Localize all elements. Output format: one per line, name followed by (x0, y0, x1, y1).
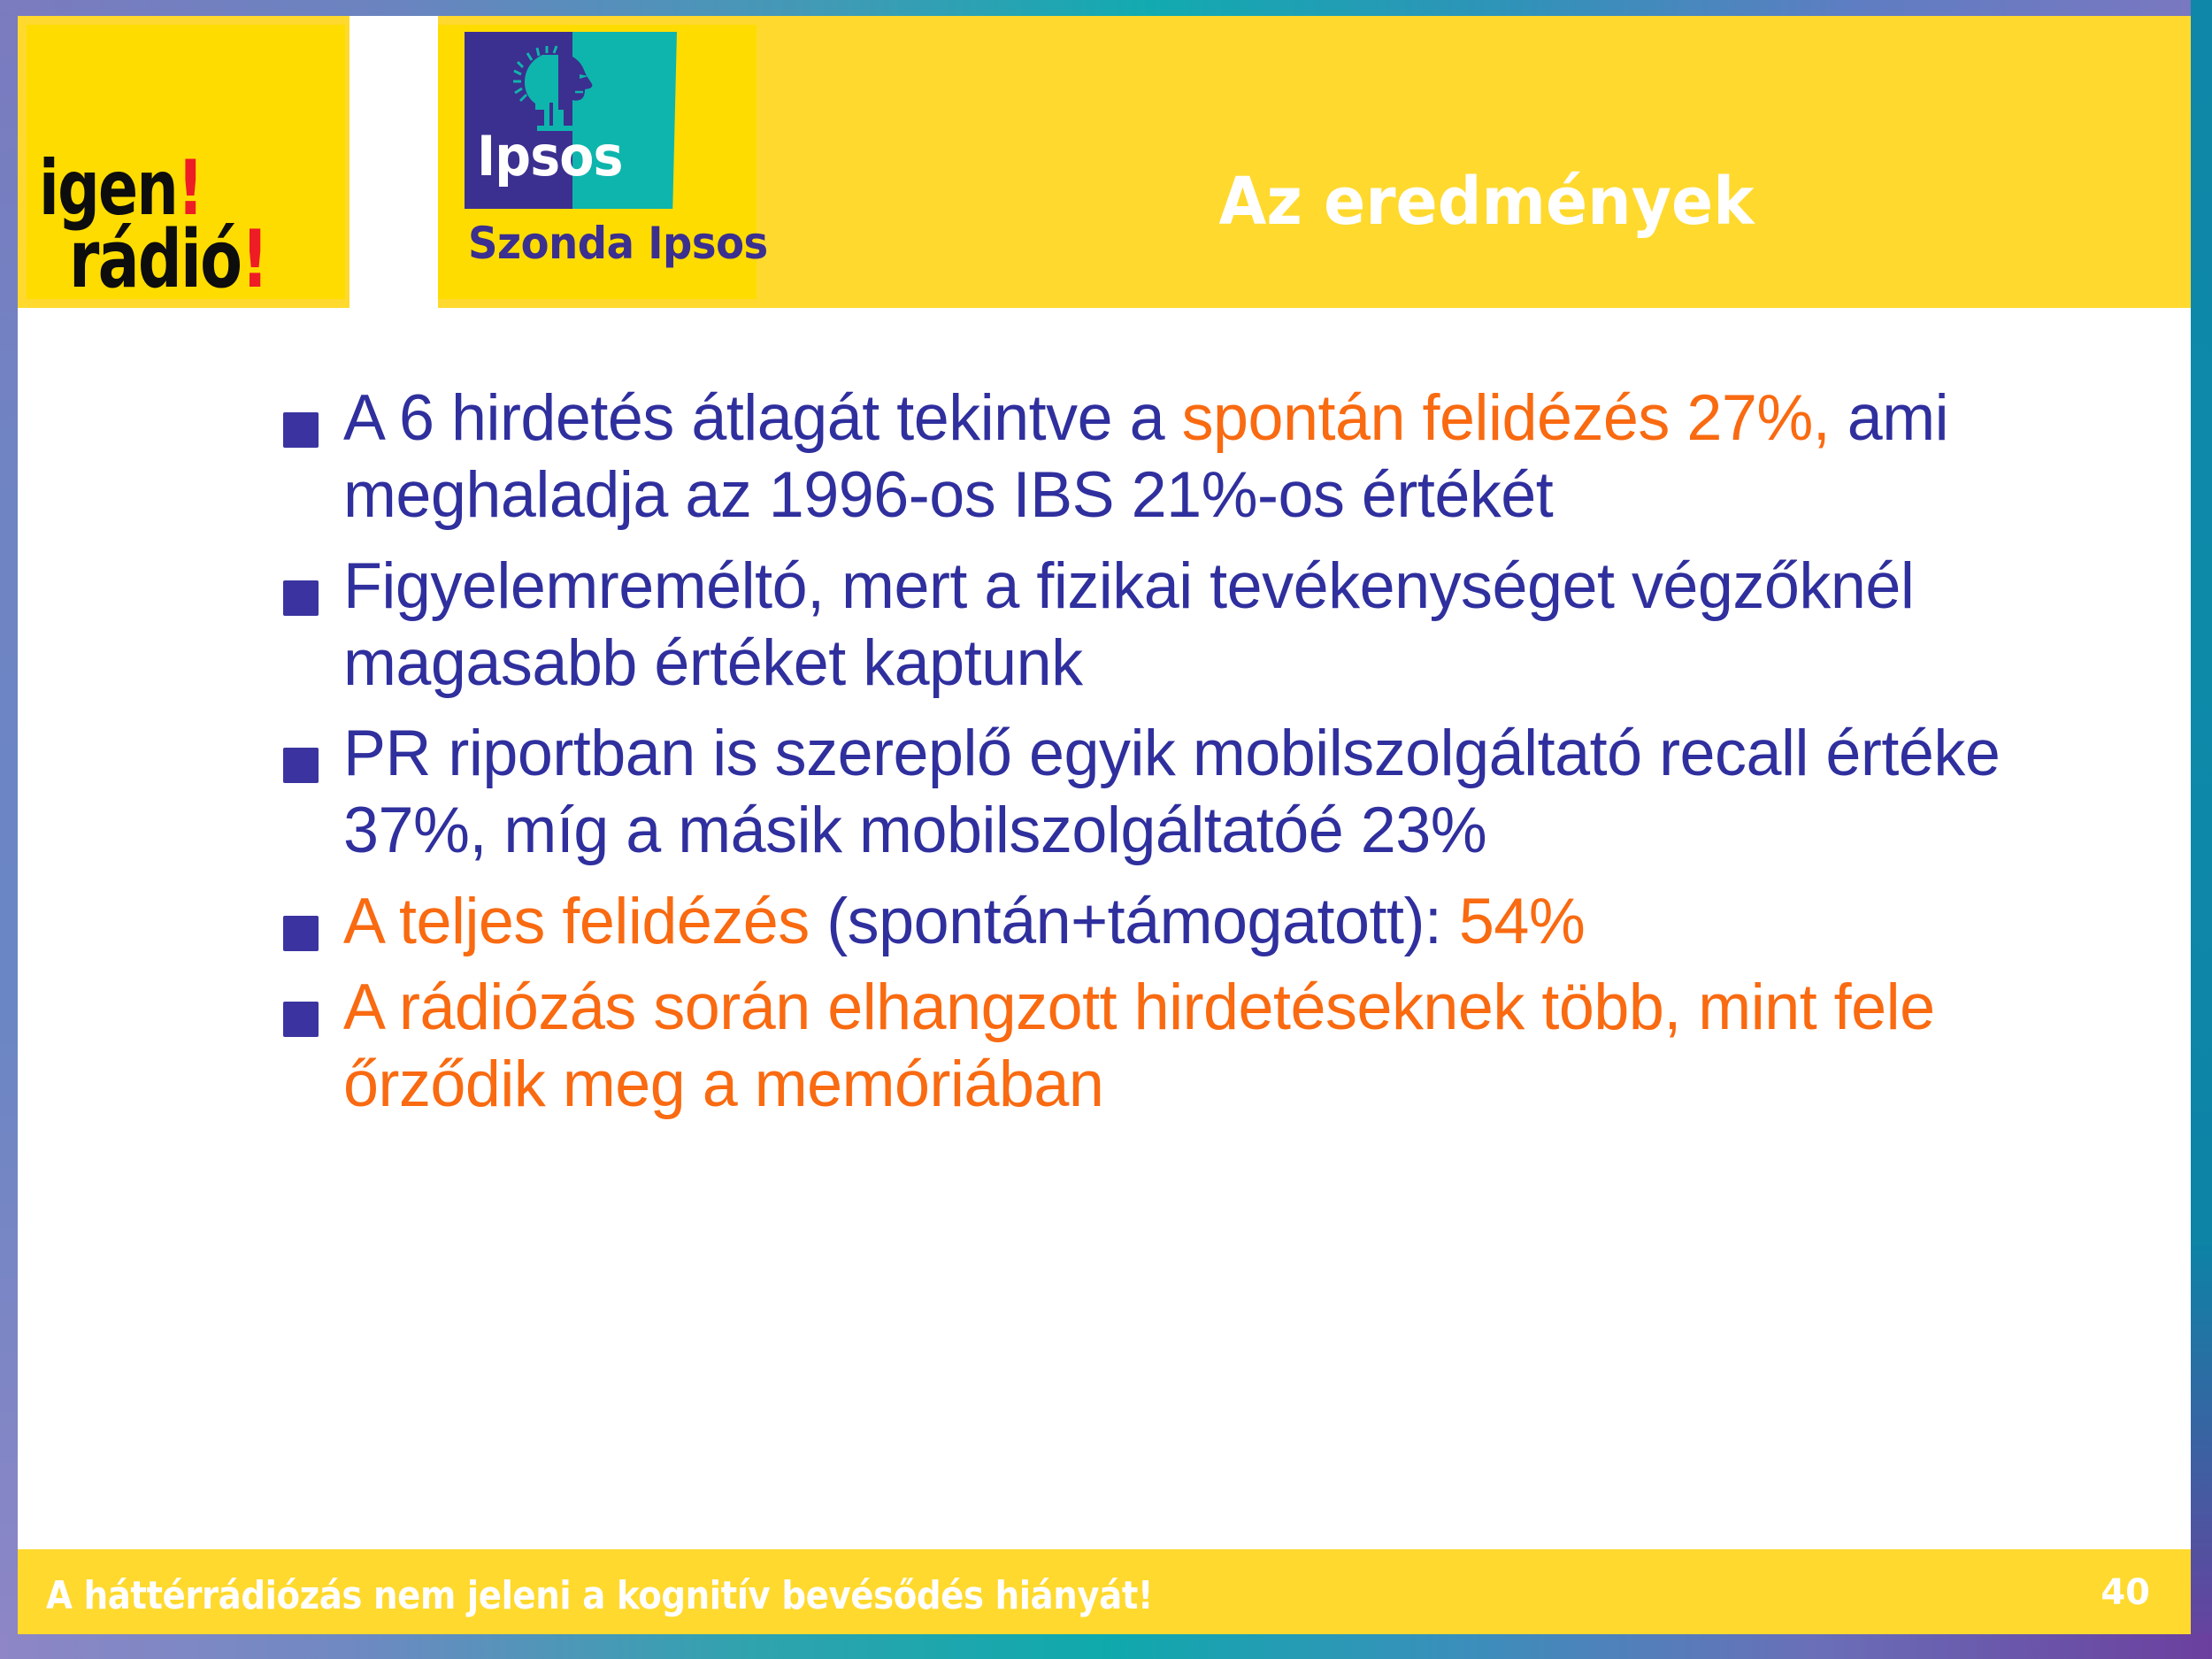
square-bullet-icon (283, 748, 319, 783)
bullet-text: Figyelemreméltó, mert a fizikai tevékeny… (343, 549, 2131, 703)
square-bullet-icon (283, 412, 319, 448)
square-bullet-icon (283, 916, 319, 951)
square-bullet-icon (283, 1002, 319, 1037)
bullet-segment: (spontán+támogatott): (826, 886, 1459, 957)
page-title: Az eredmények (838, 164, 2135, 240)
bullet-text: PR riportban is szereplő egyik mobilszol… (343, 716, 2131, 870)
bullet-segment: Figyelemreméltó, mert a fizikai tevékeny… (343, 550, 1914, 699)
slide-body: A 6 hirdetés átlagát tekintve a spontán … (283, 380, 2159, 1138)
bullet-segment-highlight: A rádiózás során elhangzott hirdetésekne… (343, 972, 1935, 1120)
bullet-segment: A 6 hirdetés átlagát tekintve a (343, 382, 1182, 454)
ipsos-logo-card: Ipsos (465, 32, 677, 209)
square-bullet-icon (283, 580, 319, 616)
decorative-bottom-border (0, 1634, 2212, 1659)
ipsos-logo-block: Ipsos Szonda Ipsos (438, 25, 757, 299)
igen-radio-logo-bang2: ! (241, 213, 267, 299)
slide-page-number: 40 (2101, 1572, 2150, 1613)
igen-radio-logo: igen! rádió! (27, 25, 345, 299)
decorative-top-border (0, 0, 2212, 16)
bullet-item: A teljes felidézés (spontán+támogatott):… (283, 884, 2159, 961)
ipsos-wordmark: Ipsos (477, 124, 623, 188)
bullet-text: A 6 hirdetés átlagát tekintve a spontán … (343, 380, 2131, 534)
bullet-item: A 6 hirdetés átlagát tekintve a spontán … (283, 380, 2159, 534)
bullet-item: A rádiózás során elhangzott hirdetésekne… (283, 970, 2159, 1124)
bullet-text: A teljes felidézés (spontán+támogatott):… (343, 884, 2131, 961)
bullet-segment-highlight: A teljes felidézés (343, 886, 826, 957)
presentation-slide: igen! rádió! Ipsos Szonda Ipsos Az (0, 0, 2212, 1659)
igen-radio-logo-word2: rádió (69, 213, 241, 299)
decorative-left-border (0, 0, 18, 1659)
bullet-segment-highlight: spontán felidézés 27%, (1182, 382, 1831, 454)
header-white-gap (349, 16, 438, 308)
decorative-right-border (2191, 0, 2212, 1659)
bullet-segment: PR riportban is szereplő egyik mobilszol… (343, 718, 2000, 866)
bullet-text: A rádiózás során elhangzott hirdetésekne… (343, 970, 2131, 1124)
igen-radio-logo-line2: rádió! (69, 225, 267, 295)
bullet-item: PR riportban is szereplő egyik mobilszol… (283, 716, 2159, 870)
bullet-item: Figyelemreméltó, mert a fizikai tevékeny… (283, 549, 2159, 703)
szonda-ipsos-caption: Szonda Ipsos (468, 218, 768, 269)
bullet-segment-highlight: 54% (1459, 886, 1585, 957)
footer-tagline: A háttérrádiózás nem jeleni a kognitív b… (46, 1573, 1153, 1618)
